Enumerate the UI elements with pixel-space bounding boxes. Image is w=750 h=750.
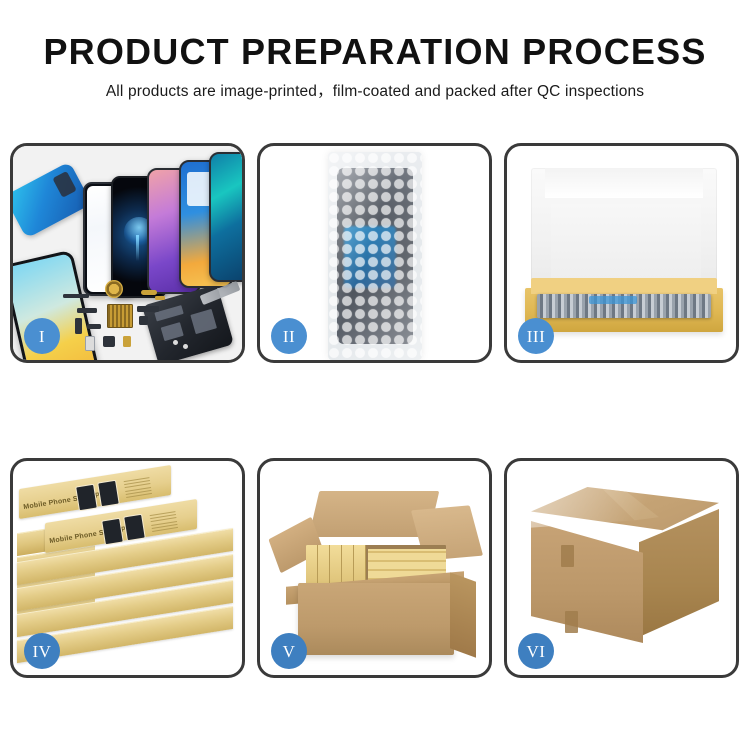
phone-screen-teal	[209, 152, 242, 282]
part-sim-tray	[85, 336, 95, 351]
part-screw-a	[173, 340, 178, 345]
carton-seam-mark-top	[561, 545, 574, 567]
part-ribbon-d	[137, 306, 159, 312]
page-subtitle: All products are image-printed，film-coat…	[0, 84, 750, 100]
step-panel-5: V	[257, 458, 492, 678]
part-earpiece-mesh	[63, 294, 89, 298]
step-panel-3: III	[504, 143, 739, 363]
part-screw-b	[183, 344, 188, 349]
part-camera	[139, 316, 148, 325]
box-art-screen-1b	[97, 480, 120, 508]
packed-product-inside	[537, 294, 711, 318]
header: PRODUCT PREPARATION PROCESS All products…	[0, 0, 750, 120]
carton-body	[298, 583, 454, 655]
step-badge-5: V	[271, 633, 307, 669]
step-badge-1: I	[24, 318, 60, 354]
box-lid-white	[531, 168, 717, 296]
carton-seam-mark-bottom	[565, 611, 578, 633]
step-panel-1: I	[10, 143, 245, 363]
part-flex-gold-a	[141, 290, 157, 295]
plastic-sheen	[328, 152, 422, 360]
step-panel-6: VI	[504, 458, 739, 678]
part-flex-gold-b	[155, 296, 165, 300]
spare-parts-cluster	[69, 286, 199, 358]
step-badge-2: II	[271, 318, 307, 354]
step-badge-4: IV	[24, 633, 60, 669]
step-badge-6: VI	[518, 633, 554, 669]
step-badge-3: III	[518, 318, 554, 354]
step-panel-4: Mobile Phone Spare Parts Mobile Phone Sp…	[10, 458, 245, 678]
part-connector-grid	[107, 304, 133, 328]
part-ribbon-b	[75, 318, 82, 334]
box-art-screen-1a	[75, 484, 98, 512]
shipping-carton-open	[280, 491, 476, 659]
page-title: PRODUCT PREPARATION PROCESS	[0, 34, 750, 70]
step-panel-2: II	[257, 143, 492, 363]
box-art-screen-2a	[101, 518, 124, 546]
product-preparation-infographic: PRODUCT PREPARATION PROCESS All products…	[0, 0, 750, 750]
part-button-set	[103, 336, 115, 347]
part-speaker-coil	[105, 280, 123, 298]
carton-front-face	[531, 521, 643, 643]
part-ribbon-a	[77, 308, 97, 313]
process-steps-grid: I II	[10, 143, 740, 678]
part-ribbon-c	[87, 324, 101, 329]
inner-box-open	[525, 162, 723, 342]
box-art-screen-2b	[123, 514, 146, 542]
box-spec-lines-2	[150, 511, 179, 534]
shipping-carton-sealed	[531, 487, 719, 655]
bubble-wrap-pouch	[328, 152, 422, 360]
box-spec-lines-1	[124, 477, 153, 500]
part-vibrator	[123, 336, 131, 347]
